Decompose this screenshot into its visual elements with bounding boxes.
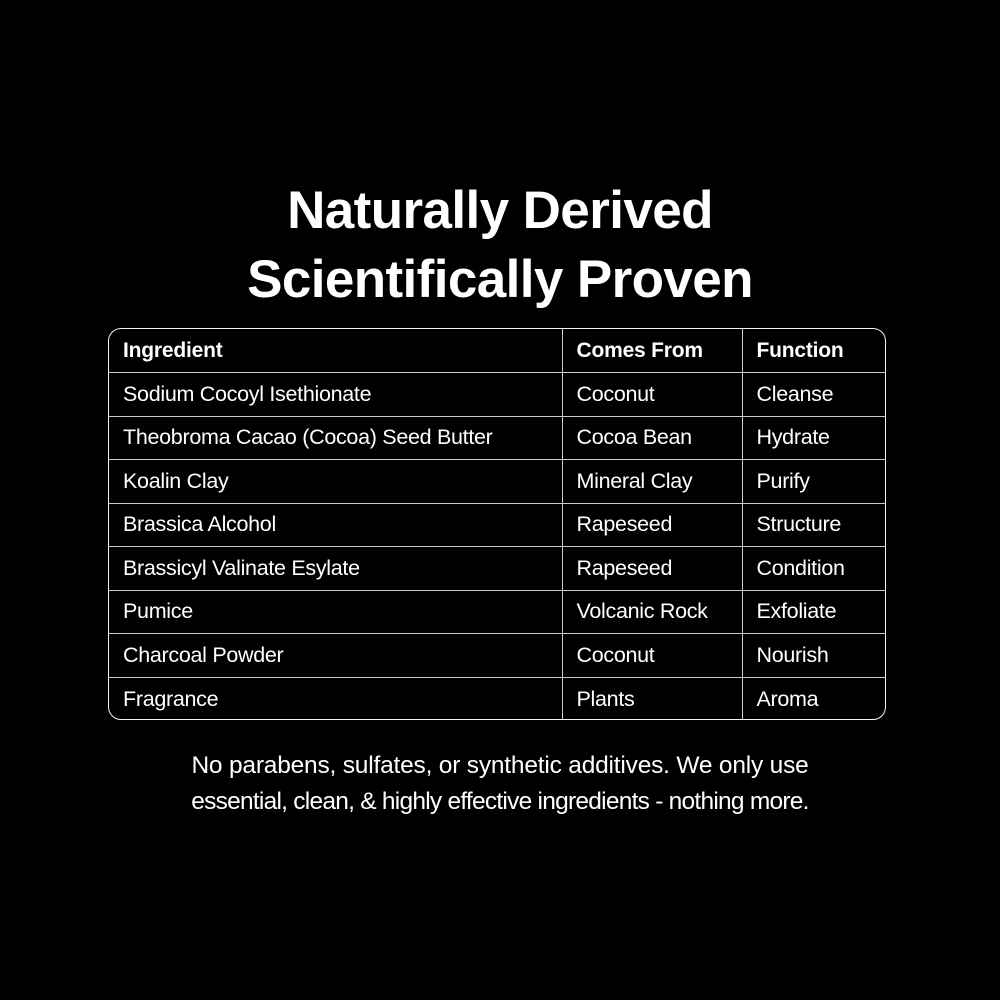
cell-ingredient: Pumice: [109, 590, 562, 634]
cell-ingredient: Theobroma Cacao (Cocoa) Seed Butter: [109, 416, 562, 460]
table-body: Sodium Cocoyl Isethionate Coconut Cleans…: [109, 373, 886, 721]
page-title-line-2: Scientifically Proven: [0, 245, 1000, 314]
table-row: Theobroma Cacao (Cocoa) Seed Butter Coco…: [109, 416, 886, 460]
ingredient-infographic: Naturally Derived Scientifically Proven …: [0, 0, 1000, 1000]
cell-source: Coconut: [562, 634, 742, 678]
column-header-function: Function: [742, 329, 886, 373]
cell-ingredient: Sodium Cocoyl Isethionate: [109, 373, 562, 417]
cell-function: Nourish: [742, 634, 886, 678]
cell-ingredient: Brassicyl Valinate Esylate: [109, 547, 562, 591]
cell-function: Hydrate: [742, 416, 886, 460]
footnote: No parabens, sulfates, or synthetic addi…: [0, 748, 1000, 820]
cell-source: Cocoa Bean: [562, 416, 742, 460]
table-row: Koalin Clay Mineral Clay Purify: [109, 460, 886, 504]
cell-source: Volcanic Rock: [562, 590, 742, 634]
table-row: Pumice Volcanic Rock Exfoliate: [109, 590, 886, 634]
cell-function: Exfoliate: [742, 590, 886, 634]
table-row: Charcoal Powder Coconut Nourish: [109, 634, 886, 678]
cell-ingredient: Koalin Clay: [109, 460, 562, 504]
cell-source: Mineral Clay: [562, 460, 742, 504]
ingredient-table-grid: Ingredient Comes From Function Sodium Co…: [109, 329, 886, 720]
footnote-line-2: essential, clean, & highly effective ing…: [0, 784, 1000, 820]
ingredient-table: Ingredient Comes From Function Sodium Co…: [108, 328, 886, 720]
footnote-line-1: No parabens, sulfates, or synthetic addi…: [0, 748, 1000, 784]
cell-source: Plants: [562, 677, 742, 720]
cell-ingredient: Fragrance: [109, 677, 562, 720]
cell-function: Structure: [742, 503, 886, 547]
cell-ingredient: Brassica Alcohol: [109, 503, 562, 547]
table-row: Fragrance Plants Aroma: [109, 677, 886, 720]
cell-source: Rapeseed: [562, 547, 742, 591]
page-title-line-1: Naturally Derived: [0, 176, 1000, 245]
cell-function: Purify: [742, 460, 886, 504]
column-header-comes-from: Comes From: [562, 329, 742, 373]
table-row: Brassica Alcohol Rapeseed Structure: [109, 503, 886, 547]
table-header: Ingredient Comes From Function: [109, 329, 886, 373]
cell-source: Rapeseed: [562, 503, 742, 547]
table-row: Sodium Cocoyl Isethionate Coconut Cleans…: [109, 373, 886, 417]
page-title: Naturally Derived Scientifically Proven: [0, 176, 1000, 314]
table-header-row: Ingredient Comes From Function: [109, 329, 886, 373]
cell-function: Condition: [742, 547, 886, 591]
cell-ingredient: Charcoal Powder: [109, 634, 562, 678]
cell-function: Aroma: [742, 677, 886, 720]
table-row: Brassicyl Valinate Esylate Rapeseed Cond…: [109, 547, 886, 591]
cell-function: Cleanse: [742, 373, 886, 417]
column-header-ingredient: Ingredient: [109, 329, 562, 373]
cell-source: Coconut: [562, 373, 742, 417]
